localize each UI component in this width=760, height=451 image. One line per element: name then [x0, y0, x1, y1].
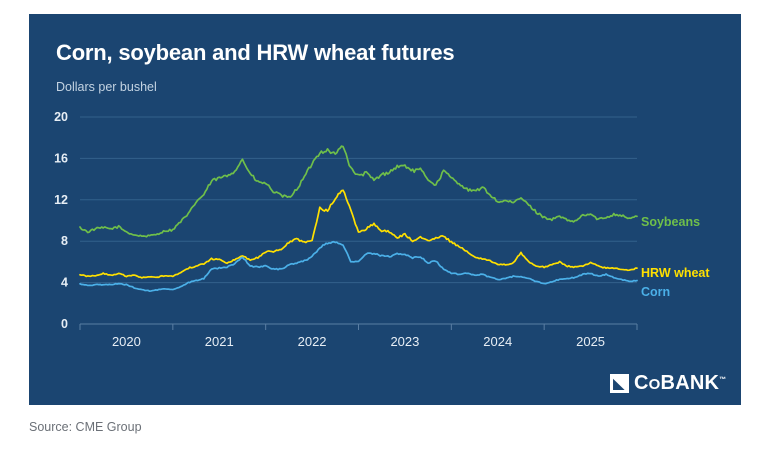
cobank-logo: COBANK™ — [610, 373, 726, 393]
x-axis-tick-label: 2023 — [390, 334, 419, 349]
x-axis-group — [80, 324, 637, 330]
series-line-corn — [80, 242, 637, 291]
x-axis-tick-label: 2022 — [298, 334, 327, 349]
chart-figure: Corn, soybean and HRW wheat futures Doll… — [0, 0, 760, 451]
y-axis-tick-label: 12 — [54, 193, 68, 207]
series-label-soybeans: Soybeans — [641, 215, 700, 229]
cobank-wordmark: COBANK™ — [634, 373, 726, 393]
chart-card: Corn, soybean and HRW wheat futures Doll… — [29, 14, 741, 405]
series-label-corn: Corn — [641, 285, 670, 299]
y-axis-tick-labels: 048121620 — [54, 110, 68, 331]
source-note: Source: CME Group — [29, 420, 142, 434]
series-line-hrw-wheat — [80, 190, 637, 278]
y-axis-tick-label: 8 — [61, 234, 68, 248]
x-axis-tick-label: 2021 — [205, 334, 234, 349]
series-label-hrw-wheat: HRW wheat — [641, 266, 710, 280]
x-axis-tick-labels: 202020212022202320242025 — [112, 334, 605, 349]
cobank-flag-icon — [610, 374, 629, 393]
x-axis-tick-label: 2025 — [576, 334, 605, 349]
plot-area: 048121620 202020212022202320242025 Soybe… — [29, 14, 741, 405]
gridlines-group — [80, 117, 637, 283]
y-axis-tick-label: 20 — [54, 110, 68, 124]
data-series-group — [80, 146, 637, 291]
y-axis-tick-label: 16 — [54, 151, 68, 165]
series-line-soybeans — [80, 146, 637, 237]
line-chart-svg: 048121620 202020212022202320242025 — [29, 14, 741, 405]
x-axis-tick-label: 2024 — [483, 334, 512, 349]
x-axis-tick-label: 2020 — [112, 334, 141, 349]
y-axis-tick-label: 0 — [61, 317, 68, 331]
y-axis-tick-label: 4 — [61, 276, 68, 290]
